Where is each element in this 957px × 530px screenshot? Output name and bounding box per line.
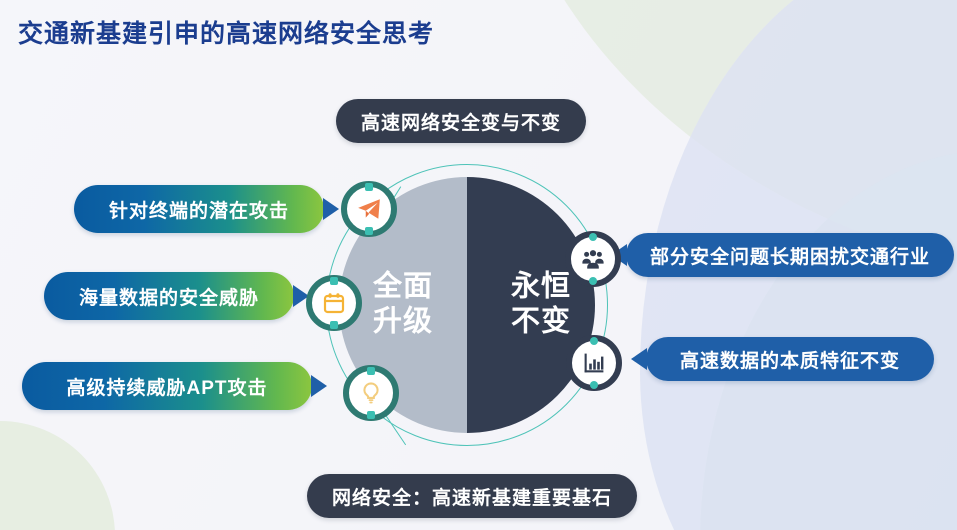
badge-accent-dot-bottom	[367, 411, 375, 419]
right-item-2-label: 高速数据的本质特征不变	[680, 346, 900, 373]
badge-accent-dot-top	[590, 337, 598, 345]
badge-accent-dot-top	[330, 277, 338, 285]
page-title: 交通新基建引申的高速网络安全思考	[18, 14, 434, 50]
left-item-3-pill[interactable]: 高级持续威胁APT攻击	[22, 362, 312, 410]
right-item-2[interactable]: 高速数据的本质特征不变	[646, 337, 934, 381]
badge-accent-dot-bottom	[589, 277, 597, 285]
icon-badge-lightbulb[interactable]	[343, 365, 399, 421]
paper-plane-icon	[356, 196, 382, 222]
badge-accent-dot-top	[367, 367, 375, 375]
lightbulb-icon	[359, 381, 383, 405]
right-item-1[interactable]: 部分安全问题长期困扰交通行业	[626, 233, 954, 277]
left-item-3-label: 高级持续威胁APT攻击	[66, 373, 267, 400]
right-item-1-label: 部分安全问题长期困扰交通行业	[650, 242, 930, 269]
left-item-2-pill[interactable]: 海量数据的安全威胁	[44, 272, 294, 320]
top-banner-pill: 高速网络安全变与不变	[336, 99, 586, 143]
bottom-banner-label: 网络安全：高速新基建重要基石	[332, 483, 612, 510]
bar-chart-icon	[582, 351, 606, 375]
icon-badge-bar-chart[interactable]	[566, 335, 622, 391]
icon-badge-paper-plane[interactable]	[341, 181, 397, 237]
badge-accent-dot-top	[589, 233, 597, 241]
icon-badge-people-group[interactable]	[565, 231, 621, 287]
right-item-2-pill[interactable]: 高速数据的本质特征不变	[646, 337, 934, 381]
badge-accent-dot-bottom	[590, 381, 598, 389]
badge-accent-dot-bottom	[365, 227, 373, 235]
left-item-2[interactable]: 海量数据的安全威胁	[44, 272, 294, 320]
left-item-2-label: 海量数据的安全威胁	[79, 283, 259, 310]
right-item-1-pill[interactable]: 部分安全问题长期困扰交通行业	[626, 233, 954, 277]
icon-badge-calendar[interactable]	[306, 275, 362, 331]
left-item-1-label: 针对终端的潜在攻击	[109, 196, 289, 223]
people-group-icon	[581, 247, 605, 271]
badge-accent-dot-top	[365, 183, 373, 191]
left-item-1-pill[interactable]: 针对终端的潜在攻击	[74, 185, 324, 233]
badge-accent-dot-bottom	[330, 321, 338, 329]
calendar-icon	[322, 291, 346, 315]
bottom-banner-pill: 网络安全：高速新基建重要基石	[307, 474, 637, 518]
left-item-3[interactable]: 高级持续威胁APT攻击	[22, 362, 312, 410]
top-banner-label: 高速网络安全变与不变	[361, 108, 561, 135]
left-item-1[interactable]: 针对终端的潜在攻击	[74, 185, 324, 233]
